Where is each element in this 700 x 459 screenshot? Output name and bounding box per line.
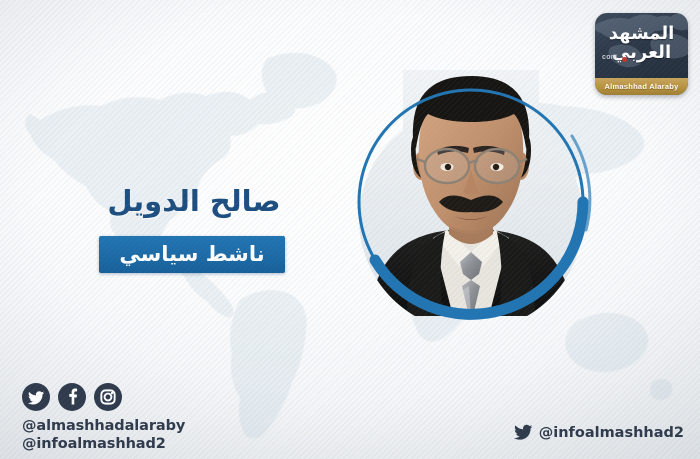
role-badge: ناشط سياسي: [99, 236, 285, 273]
brand-logo-band: Almashhad Alaraby: [595, 78, 688, 95]
footer-twitter-handle: @infoalmashhad2: [539, 425, 684, 441]
social-handle-2[interactable]: @infoalmashhad2: [22, 435, 185, 453]
portrait-ring: [340, 62, 602, 354]
social-icons: [22, 383, 185, 411]
twitter-icon[interactable]: [22, 383, 50, 411]
brand-logo-com: com: [602, 54, 617, 61]
social-media-card: صالح الدويل ناشط سياسي المشهد العربي com…: [0, 0, 700, 459]
brand-logo-line1: المشهد: [595, 25, 688, 43]
brand-logo-dot: [622, 57, 627, 62]
social-handles: @almashhadalaraby @infoalmashhad2: [22, 417, 185, 453]
facebook-icon[interactable]: [58, 383, 86, 411]
brand-logo[interactable]: المشهد العربي com Almashhad Alaraby: [595, 13, 688, 95]
social-block: @almashhadalaraby @infoalmashhad2: [22, 383, 185, 453]
twitter-icon: [514, 423, 533, 442]
brand-logo-caption: Almashhad Alaraby: [605, 82, 679, 91]
person-name: صالح الدويل: [96, 186, 292, 218]
instagram-icon[interactable]: [94, 383, 122, 411]
role-badge-label: ناشط سياسي: [119, 244, 264, 265]
social-handle-1[interactable]: @almashhadalaraby: [22, 417, 185, 435]
footer-twitter[interactable]: @infoalmashhad2: [514, 423, 684, 442]
portrait-container: [340, 62, 602, 354]
